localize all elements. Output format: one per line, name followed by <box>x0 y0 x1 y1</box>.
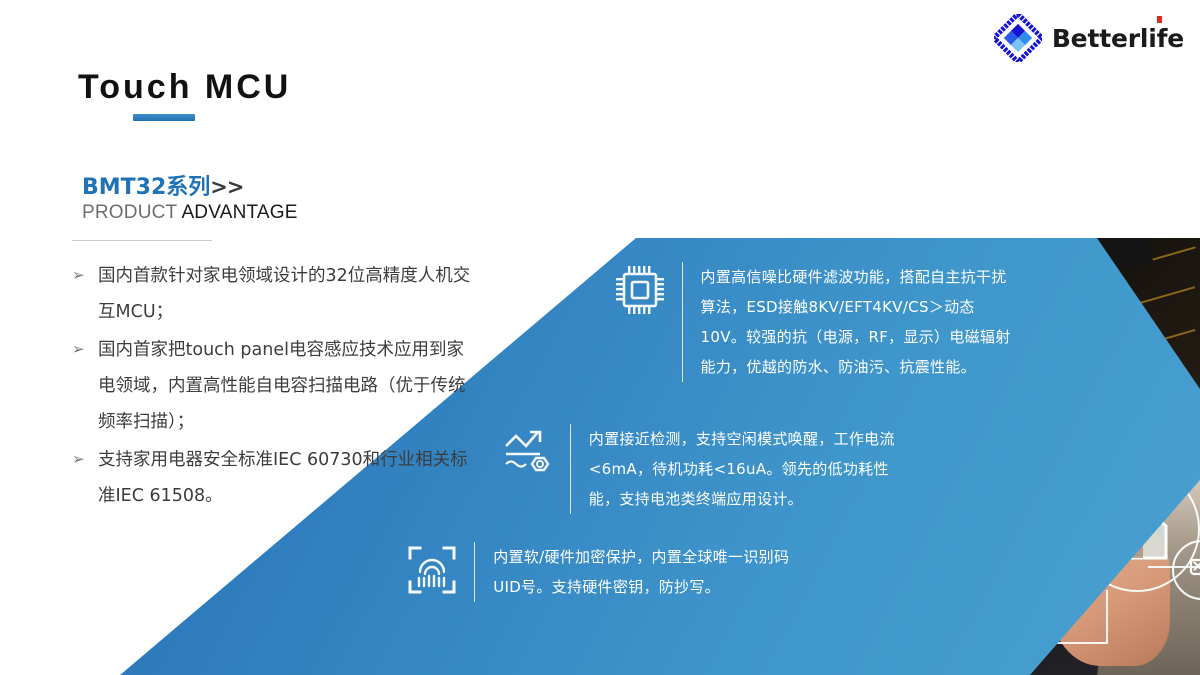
diamond-logo-icon <box>994 14 1042 62</box>
list-item: ➢ 国内首款针对家电领域设计的32位高精度人机交互MCU； <box>72 258 472 330</box>
list-item-label: 国内首家把touch panel电容感应技术应用到家电领域，内置高性能自电容扫描… <box>98 332 472 440</box>
bullet-arrow-icon: ➢ <box>72 332 98 368</box>
microchip-icon <box>612 262 668 318</box>
list-item-label: 支持家用电器安全标准IEC 60730和行业相关标准IEC 61508。 <box>98 442 472 514</box>
feature-text: 内置接近检测，支持空闲模式唤醒，工作电流<6mA，待机功耗<16uA。领先的低功… <box>589 424 900 514</box>
title-underline <box>133 114 195 121</box>
section-heading-en-part2: ADVANTAGE <box>181 202 297 223</box>
heading-divider <box>72 240 212 241</box>
feature-divider <box>682 262 683 382</box>
list-item: ➢ 国内首家把touch panel电容感应技术应用到家电领域，内置高性能自电容… <box>72 332 472 440</box>
brand-logo: Betterlife <box>994 14 1184 62</box>
feature-block-noise-filter: 内置高信噪比硬件滤波功能，搭配自主抗干扰算法，ESD接触8KV/EFT4KV/C… <box>612 262 1012 382</box>
feature-block-encryption: 内置软/硬件加密保护，内置全球唯一识别码UID号。支持硬件密钥，防抄写。 <box>404 542 804 602</box>
page-title: Touch MCU <box>78 68 291 107</box>
feature-divider <box>474 542 475 602</box>
fingerprint-scan-icon <box>404 542 460 598</box>
feature-block-low-power: 内置接近检测，支持空闲模式唤醒，工作电流<6mA，待机功耗<16uA。领先的低功… <box>500 424 900 514</box>
brand-name: Betterlife <box>1052 24 1184 53</box>
section-heading-en-part1: PRODUCT <box>82 202 181 223</box>
logo-accent-dot <box>1157 16 1162 23</box>
slide-canvas: ✳ <box>0 0 1200 675</box>
section-heading-cn-text: BMT32系列 <box>82 175 210 200</box>
feature-text: 内置软/硬件加密保护，内置全球唯一识别码UID号。支持硬件密钥，防抄写。 <box>493 542 804 602</box>
section-heading-cn: BMT32系列>> <box>82 176 442 200</box>
feature-text: 内置高信噪比硬件滤波功能，搭配自主抗干扰算法，ESD接触8KV/EFT4KV/C… <box>701 262 1012 382</box>
section-heading: BMT32系列>> PRODUCT ADVANTAGE <box>82 176 442 224</box>
advantage-bullet-list: ➢ 国内首款针对家电领域设计的32位高精度人机交互MCU； ➢ 国内首家把tou… <box>72 258 472 516</box>
section-heading-en: PRODUCT ADVANTAGE <box>82 202 442 224</box>
plug-icon <box>1172 540 1200 600</box>
list-item-label: 国内首款针对家电领域设计的32位高精度人机交互MCU； <box>98 258 472 330</box>
list-item: ➢ 支持家用电器安全标准IEC 60730和行业相关标准IEC 61508。 <box>72 442 472 514</box>
bullet-arrow-icon: ➢ <box>72 258 98 294</box>
bullet-arrow-icon: ➢ <box>72 442 98 478</box>
signal-wave-icon <box>500 424 556 480</box>
chevron-right-icon: >> <box>210 175 243 199</box>
feature-divider <box>570 424 571 514</box>
